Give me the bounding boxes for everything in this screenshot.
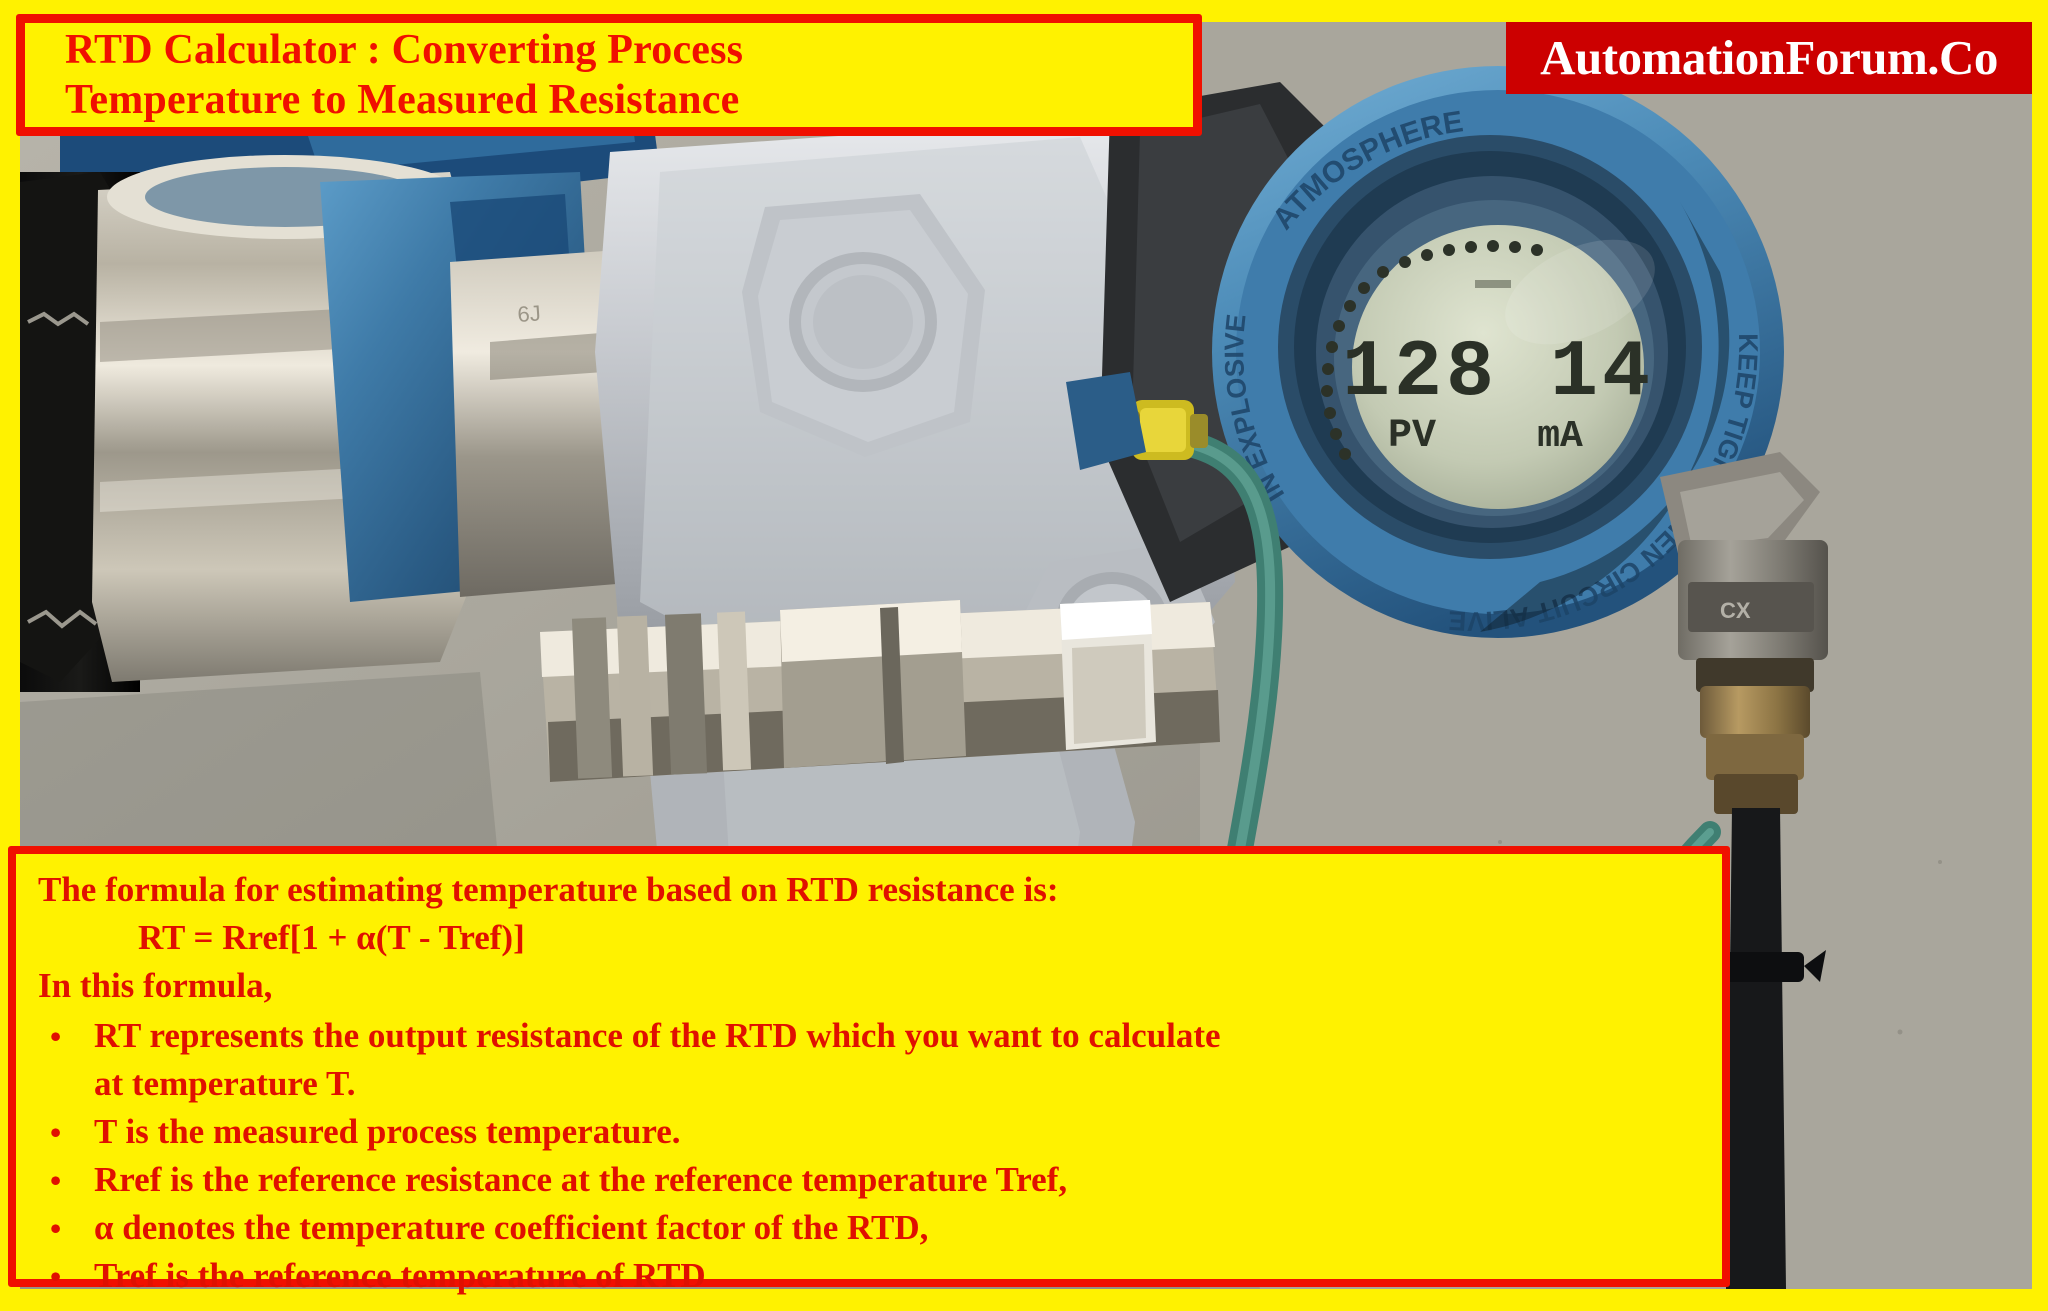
page-title-banner: RTD Calculator : Converting Process Temp…: [16, 14, 1202, 136]
page-title-line-2: Temperature to Measured Resistance: [65, 75, 1179, 125]
site-logo-text: AutomationForum.Co: [1540, 32, 1998, 84]
list-item: • Tref is the reference temperature of R…: [38, 1252, 1706, 1300]
list-item-label: Tref is the reference temperature of RTD: [94, 1252, 1706, 1300]
bullet-icon: •: [38, 1012, 94, 1060]
page-title-line-1: RTD Calculator : Converting Process: [65, 25, 1179, 75]
list-item: • RT represents the output resistance of…: [38, 1012, 1706, 1108]
formula-legend-heading: In this formula,: [38, 962, 1706, 1010]
svg-text:6J: 6J: [517, 300, 542, 327]
formula-intro-text: The formula for estimating temperature b…: [38, 866, 1706, 914]
svg-text:mA: mA: [1537, 415, 1583, 458]
screenshot-root: 6J: [0, 0, 2048, 1311]
list-item: • Rref is the reference resistance at th…: [38, 1156, 1706, 1204]
list-item: • T is the measured process temperature.: [38, 1108, 1706, 1156]
list-item-label: α denotes the temperature coefficient fa…: [94, 1204, 1706, 1252]
bullet-icon: •: [38, 1204, 94, 1252]
svg-text:128 14: 128 14: [1342, 328, 1654, 419]
bullet-icon: •: [38, 1252, 94, 1300]
bullet-icon: •: [38, 1156, 94, 1204]
formula-explanation-panel: The formula for estimating temperature b…: [8, 846, 1730, 1287]
bullet-icon: •: [38, 1108, 94, 1156]
list-item: • α denotes the temperature coefficient …: [38, 1204, 1706, 1252]
list-item-line-1: RT represents the output resistance of t…: [94, 1016, 1221, 1055]
list-item-label: Rref is the reference resistance at the …: [94, 1156, 1706, 1204]
svg-text:PV: PV: [1388, 414, 1436, 459]
svg-text:CX: CX: [1720, 598, 1751, 623]
list-item-label: T is the measured process temperature.: [94, 1108, 1706, 1156]
formula-variable-list: • RT represents the output resistance of…: [38, 1012, 1706, 1300]
list-item-label: RT represents the output resistance of t…: [94, 1012, 1706, 1108]
rtd-equation: RT = Rref[1 + α(T - Tref)]: [38, 914, 1706, 962]
list-item-line-2: at temperature T.: [94, 1060, 1706, 1108]
site-logo-badge[interactable]: AutomationForum.Co: [1506, 22, 2032, 94]
